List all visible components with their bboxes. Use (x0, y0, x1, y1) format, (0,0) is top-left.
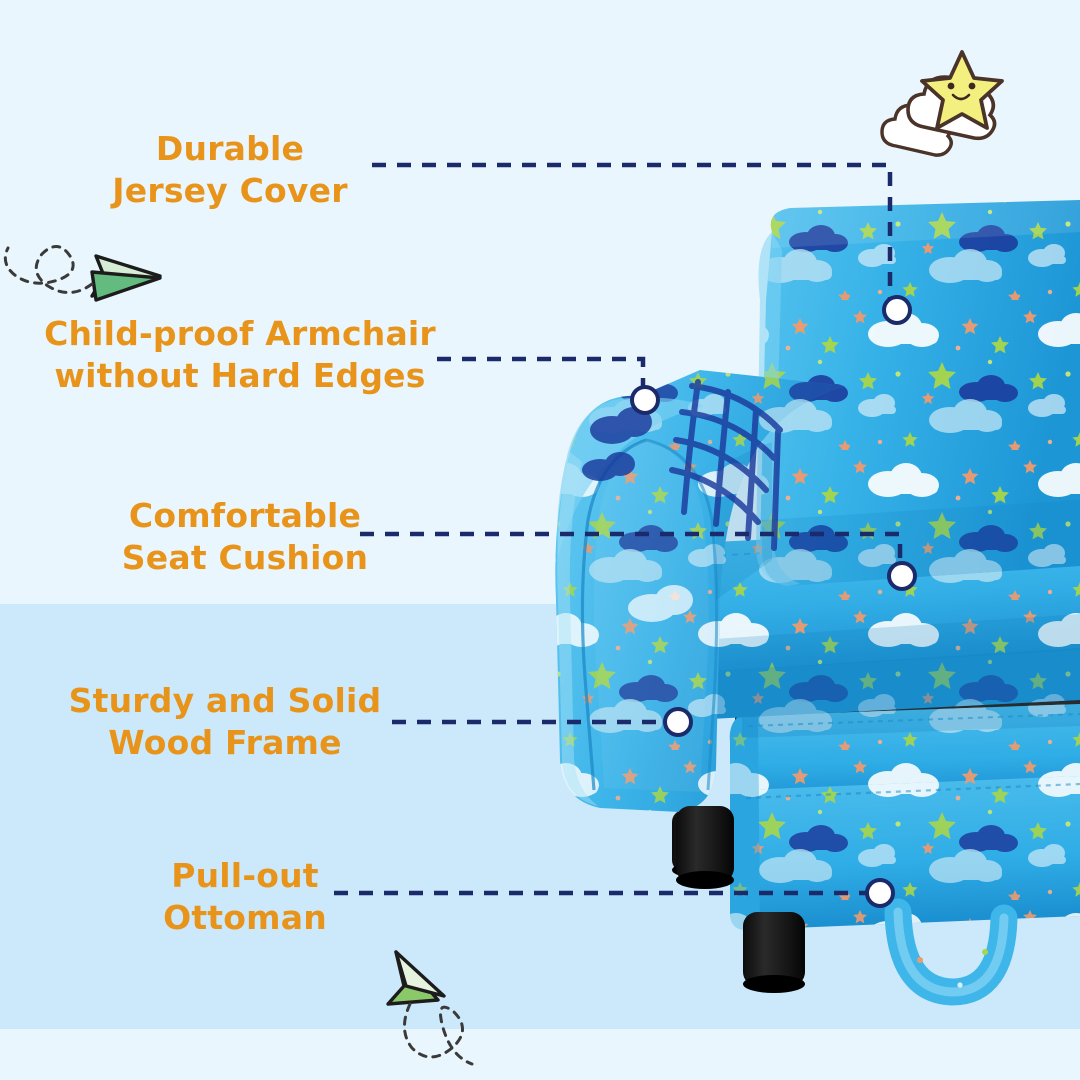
paper-airplane-bottom-icon (388, 952, 472, 1064)
callout-label-comfortable-seat-cushion: Comfortable Seat Cushion (75, 495, 415, 579)
callout-label-sturdy-solid-wood-frame: Sturdy and Solid Wood Frame (30, 680, 420, 764)
callout-label-child-proof-armchair: Child-proof Armchair without Hard Edges (30, 313, 450, 397)
airplane-trail-bottom (404, 1004, 472, 1064)
infographic-canvas: Durable Jersey Cover Child-proof Armchai… (0, 0, 1080, 1080)
callout-label-durable-jersey-cover: Durable Jersey Cover (60, 128, 400, 212)
callout-label-pull-out-ottoman: Pull-out Ottoman (75, 855, 415, 939)
airplane-trail-top (5, 246, 92, 292)
smiling-star-icon (882, 52, 1002, 155)
paper-airplane-top-icon (5, 246, 160, 300)
